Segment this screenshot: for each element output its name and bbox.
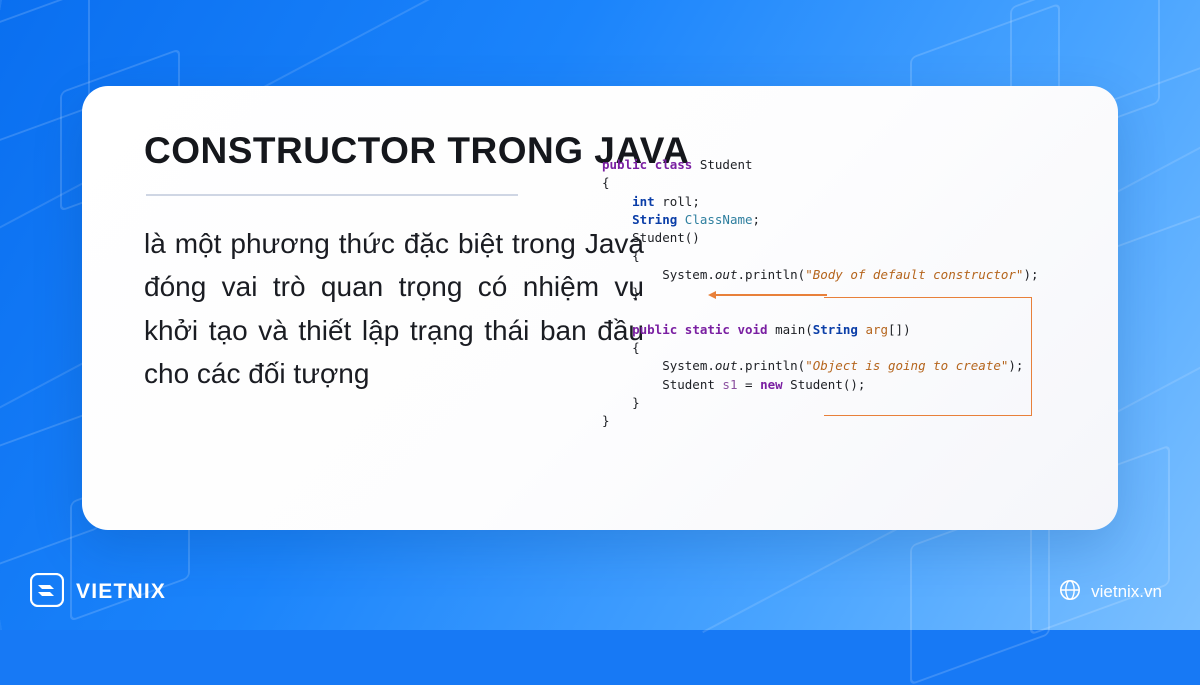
vietnix-logo-icon (30, 573, 64, 612)
brand: VIETNIX (30, 573, 166, 612)
content-card: CONSTRUCTOR TRONG JAVA là một phương thứ… (82, 86, 1118, 530)
code-column: public class Student { int roll; String … (602, 86, 1118, 530)
title-divider (146, 194, 518, 196)
site-link[interactable]: vietnix.vn (1059, 579, 1162, 606)
card-description: là một phương thức đặc biệt trong Java đ… (144, 222, 644, 396)
code-annotation-arrow (715, 294, 827, 296)
footer: VIETNIX vietnix.vn (0, 554, 1200, 630)
globe-icon (1059, 579, 1081, 606)
brand-name: VIETNIX (76, 580, 166, 604)
code-block: public class Student { int roll; String … (602, 156, 1088, 430)
site-url: vietnix.vn (1091, 582, 1162, 602)
page-title: CONSTRUCTOR TRONG JAVA (144, 130, 602, 172)
card-text-column: CONSTRUCTOR TRONG JAVA là một phương thứ… (82, 86, 602, 530)
